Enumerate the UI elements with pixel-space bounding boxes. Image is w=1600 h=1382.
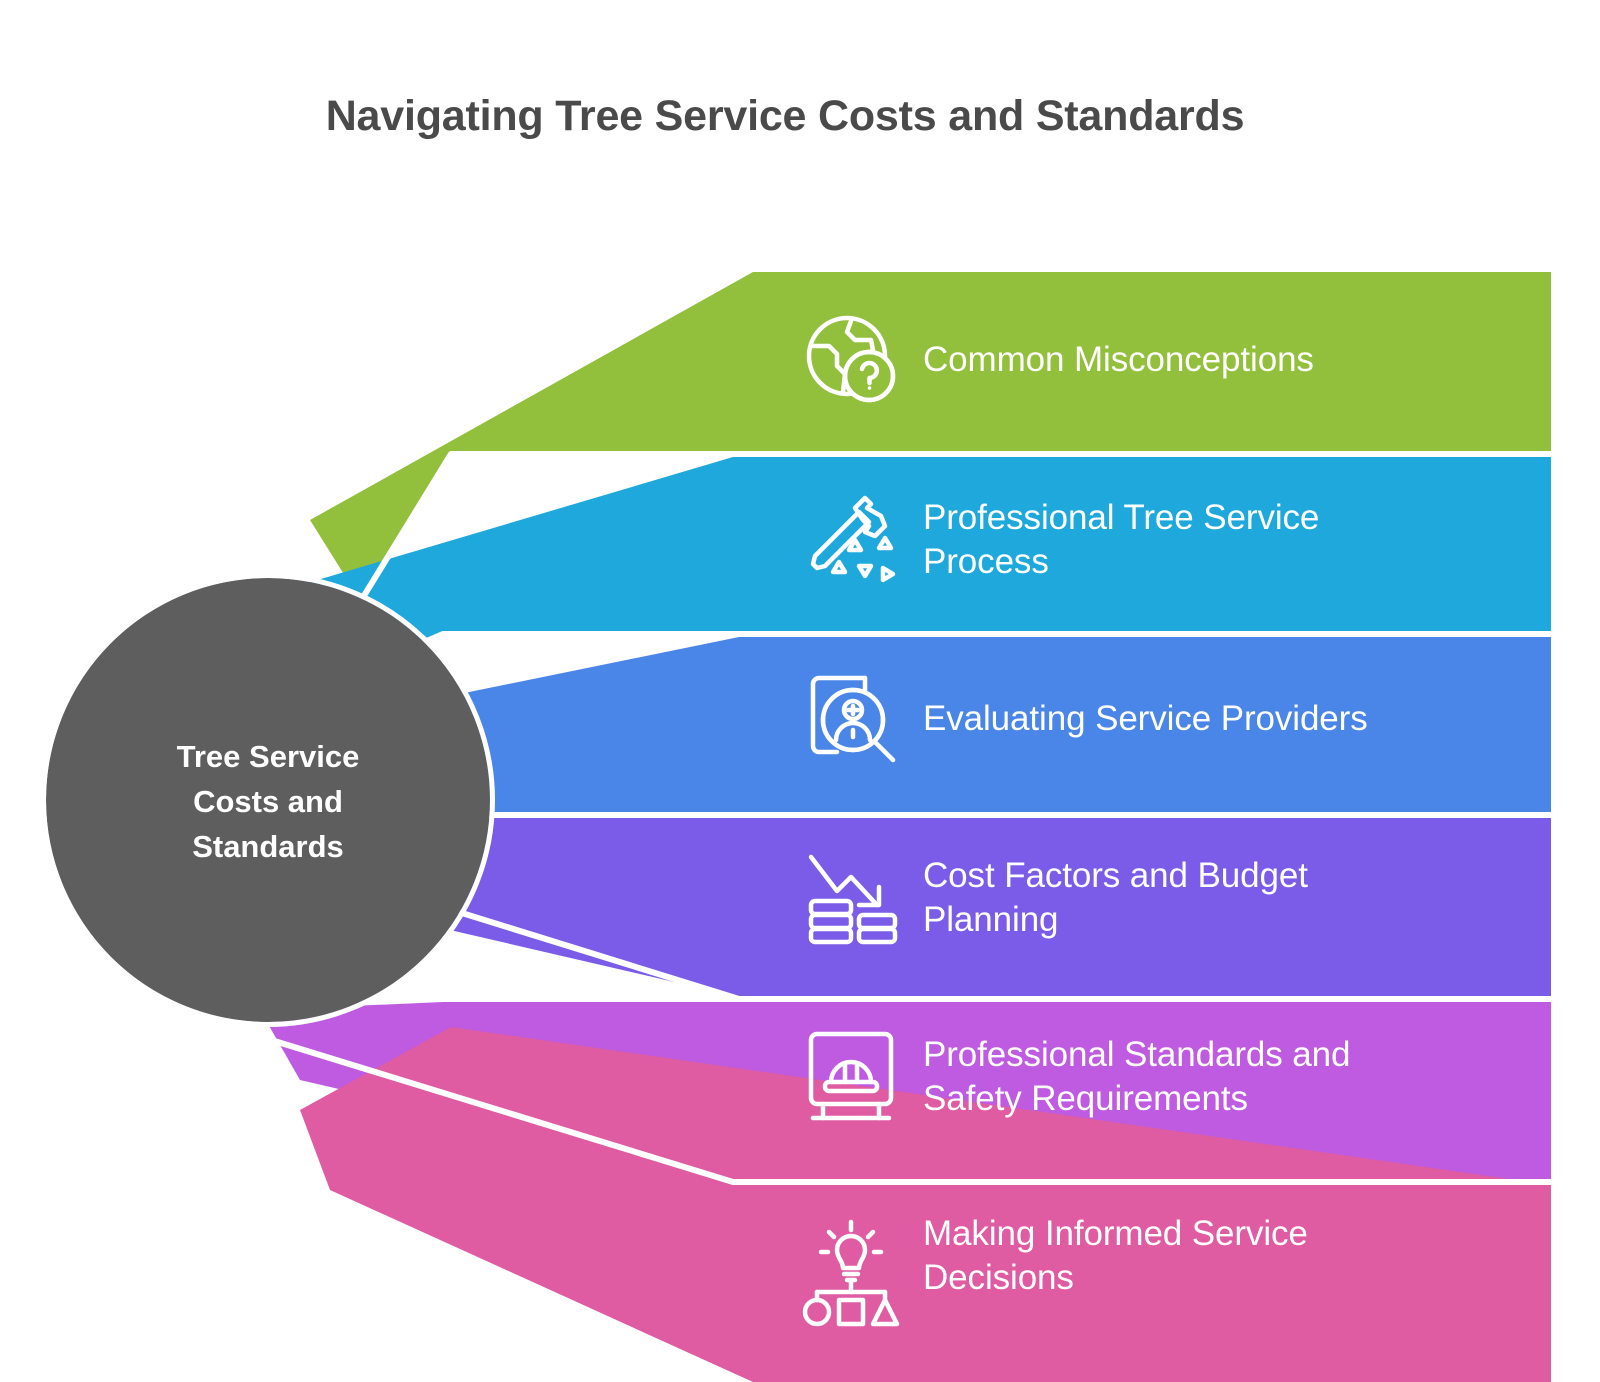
band-label-making-informed-service-decisions: Making Informed Service Decisions [923, 1212, 1543, 1300]
band-label-common-misconceptions: Common Misconceptions [923, 338, 1543, 382]
hub-label: Tree Service Costs and Standards [108, 735, 428, 870]
radial-ribbon-diagram [0, 0, 1600, 1382]
band-label-cost-factors-and-budget-planning: Cost Factors and Budget Planning [923, 854, 1543, 942]
band-label-evaluating-service-providers: Evaluating Service Providers [923, 697, 1543, 741]
infographic-canvas: Navigating Tree Service Costs and Standa… [0, 0, 1600, 1382]
band-label-professional-tree-service-process: Professional Tree Service Process [923, 496, 1543, 584]
band-label-professional-standards-and-safety-requirements: Professional Standards and Safety Requir… [923, 1033, 1543, 1121]
